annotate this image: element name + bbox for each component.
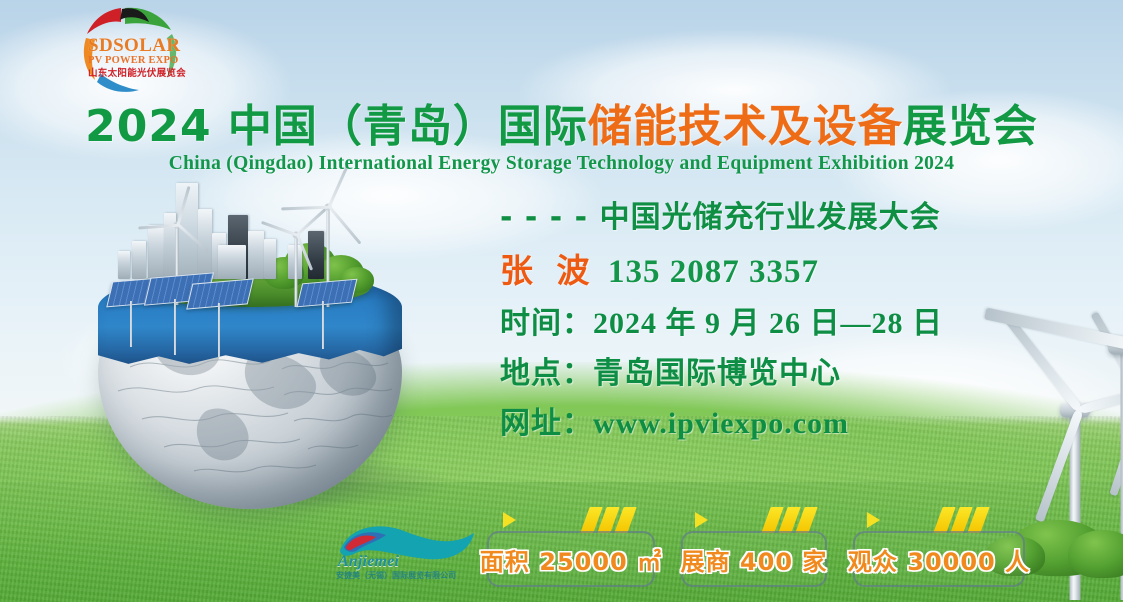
title-part-tail: 展览会 [903,101,1038,152]
title-part-region: 2024 中国（青岛）国际 [85,101,588,152]
logo-main-text: SDSOLAR [88,36,208,55]
sdsolar-wordmark: SDSOLAR PV POWER EXPO 山东太阳能光伏展览会 [88,36,208,78]
solar-panel-leg [218,303,220,357]
website-value[interactable]: www.ipviexpo.com [593,407,849,440]
solar-panel-leg [322,301,324,349]
conference-name: 中国光储充行业发展大会 [600,200,941,235]
venue-label: 地点： [500,356,593,391]
stat-badge-visitors[interactable]: 观众 30000 人 [853,531,1025,587]
page-title: 2024 中国（青岛）国际储能技术及设备展览会 [0,104,1123,150]
skyscraper-icon [248,231,264,279]
skyscraper-icon [118,251,130,279]
skyscraper-icon [132,241,146,279]
anjiemei-logo[interactable]: Anjiemei 安捷美（无锡）国际展览有限公司 [334,517,480,585]
stat-badge-text: 面积 25000 ㎡ [480,542,662,577]
event-venue-line: 地点：青岛国际博览中心 [500,348,1100,392]
title-part-highlight: 储能技术及设备 [588,101,903,152]
date-value: 2024 年 9 月 26 日—28 日 [593,307,943,340]
stat-badge-text: 观众 30000 人 [848,542,1030,577]
date-label: 时间： [500,306,593,341]
skyscraper-icon [218,245,246,279]
arrow-marker-icon [867,512,880,528]
event-info-block: - - - - 中国光储充行业发展大会 张 波 135 2087 3357 时间… [500,192,1100,448]
stat-badge-exhibitors[interactable]: 展商 400 家 [681,531,827,587]
stripe-marker-icon [938,507,985,533]
eco-globe-illustration [78,183,478,513]
stripe-marker-icon [766,507,813,533]
stat-badge-text: 展商 400 家 [681,542,828,577]
event-website-line: 网址：www.ipviexpo.com [500,398,1100,442]
exhibition-poster: SDSOLAR PV POWER EXPO 山东太阳能光伏展览会 2024 中国… [0,0,1123,602]
website-label: 网址： [500,406,593,441]
venue-value: 青岛国际博览中心 [593,356,841,391]
sdsolar-logo[interactable]: SDSOLAR PV POWER EXPO 山东太阳能光伏展览会 [52,2,207,98]
title-english: China (Qingdao) International Energy Sto… [0,153,1123,175]
arrow-marker-icon [503,512,516,528]
conference-subtitle: - - - - 中国光储充行业发展大会 [500,192,1100,236]
solar-panel-leg [174,299,176,355]
stripe-marker-icon [585,507,632,533]
contact-line: 张 波 135 2087 3357 [500,244,1100,292]
event-date-line: 时间：2024 年 9 月 26 日—28 日 [500,298,1100,342]
logo-chinese-text: 山东太阳能光伏展览会 [88,69,208,79]
arrow-marker-icon [695,512,708,528]
solar-panel-leg [130,301,132,347]
bush-decoration [1068,530,1123,578]
contact-phone[interactable]: 135 2087 3357 [608,254,819,290]
stat-badge-area[interactable]: 面积 25000 ㎡ [487,531,655,587]
organizer-name-cn: 安捷美（无锡）国际展览有限公司 [336,570,480,581]
conference-dashes: - - - - [500,200,588,235]
organizer-name-en: Anjiemei [338,553,458,571]
contact-name: 张 波 [500,251,596,290]
title-block: 2024 中国（青岛）国际储能技术及设备展览会 China (Qingdao) … [0,104,1123,175]
logo-sub-text: PV POWER EXPO [88,56,208,67]
